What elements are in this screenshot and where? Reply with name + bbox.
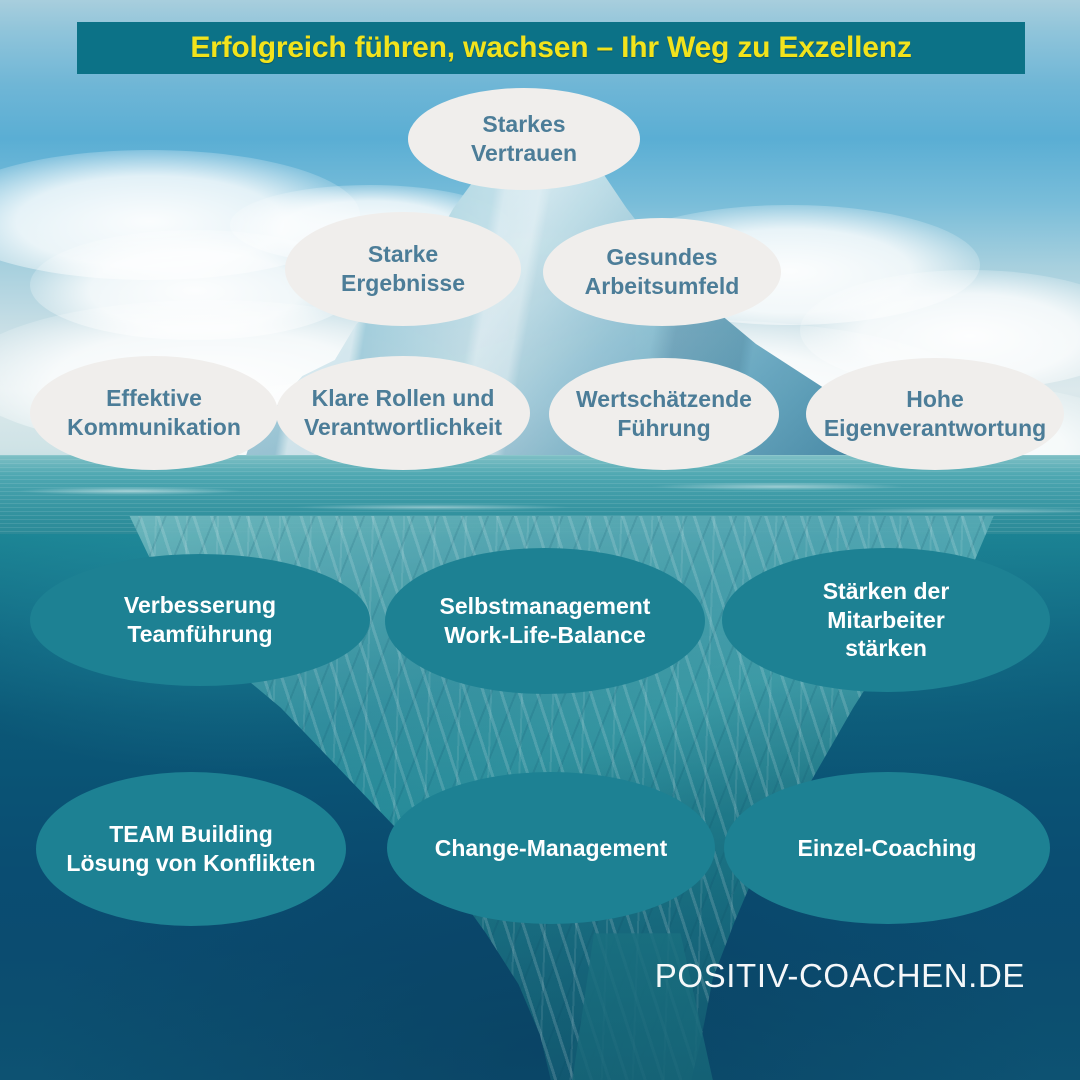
bubble-line: Arbeitsumfeld (577, 272, 748, 301)
bubble-line: Gesundes (577, 243, 748, 272)
bubble-effektive-kommunikation[interactable]: EffektiveKommunikation (30, 356, 278, 470)
bubble-change-management[interactable]: Change-Management (387, 772, 715, 924)
bubble-line: Eigenverantwortung (816, 414, 1054, 443)
bubble-line: Führung (568, 414, 760, 443)
bubble-team-building[interactable]: TEAM BuildingLösung von Konflikten (36, 772, 346, 926)
bubble-gesundes-arbeitsumfeld[interactable]: GesundesArbeitsumfeld (543, 218, 781, 326)
bubble-label: HoheEigenverantwortung (808, 385, 1062, 443)
bubble-hohe-eigenverantwortung[interactable]: HoheEigenverantwortung (806, 358, 1064, 470)
bubble-line: Teamführung (116, 620, 284, 649)
bubble-line: TEAM Building (58, 820, 323, 849)
bubble-starke-ergebnisse[interactable]: StarkeErgebnisse (285, 212, 521, 326)
bubble-label: StarkesVertrauen (455, 110, 593, 168)
bubble-label: SelbstmanagementWork-Life-Balance (424, 592, 667, 650)
bubble-wertschaetzende-fuehrung[interactable]: WertschätzendeFührung (549, 358, 779, 470)
bubble-label: Einzel-Coaching (782, 834, 993, 863)
bubble-label: GesundesArbeitsumfeld (569, 243, 756, 301)
bubble-label: Change-Management (419, 834, 684, 863)
bubble-staerken-mitarbeiter[interactable]: Stärken derMitarbeiterstärken (722, 548, 1050, 692)
title-banner: Erfolgreich führen, wachsen – Ihr Weg zu… (77, 22, 1025, 74)
bubble-starkes-vertrauen[interactable]: StarkesVertrauen (408, 88, 640, 190)
bubble-line: Hohe (816, 385, 1054, 414)
bubble-line: Verantwortlichkeit (296, 413, 510, 442)
bubble-line: Einzel-Coaching (790, 834, 985, 863)
bubble-einzel-coaching[interactable]: Einzel-Coaching (724, 772, 1050, 924)
bubble-line: Work-Life-Balance (432, 621, 659, 650)
bubble-selbstmanagement[interactable]: SelbstmanagementWork-Life-Balance (385, 548, 705, 694)
bubble-line: Verbesserung (116, 591, 284, 620)
bubble-label: StarkeErgebnisse (325, 240, 481, 298)
bubble-verbesserung-teamfuehrung[interactable]: VerbesserungTeamführung (30, 554, 370, 686)
bubble-label: TEAM BuildingLösung von Konflikten (50, 820, 331, 878)
bubble-line: Effektive (59, 384, 249, 413)
bubble-klare-rollen[interactable]: Klare Rollen undVerantwortlichkeit (276, 356, 530, 470)
bubble-line: Starke (333, 240, 473, 269)
bubble-line: Selbstmanagement (432, 592, 659, 621)
bubble-line: Change-Management (427, 834, 676, 863)
bubble-line: stärken (815, 634, 958, 663)
bubble-line: Wertschätzende (568, 385, 760, 414)
watermark-text: POSITIV-COACHEN.DE (655, 957, 1025, 995)
banner-title: Erfolgreich führen, wachsen – Ihr Weg zu… (190, 31, 911, 65)
bubble-line: Klare Rollen und (296, 384, 510, 413)
bubble-line: Vertrauen (463, 139, 585, 168)
bubble-line: Lösung von Konflikten (58, 849, 323, 878)
bubble-line: Starkes (463, 110, 585, 139)
bubble-line: Stärken der (815, 577, 958, 606)
bubble-label: Stärken derMitarbeiterstärken (807, 577, 966, 664)
bubble-label: EffektiveKommunikation (51, 384, 257, 442)
bubble-line: Mitarbeiter (815, 606, 958, 635)
iceberg-infographic: Erfolgreich führen, wachsen – Ihr Weg zu… (0, 0, 1080, 1080)
bubble-label: Klare Rollen undVerantwortlichkeit (288, 384, 518, 442)
bubble-label: VerbesserungTeamführung (108, 591, 292, 649)
bubble-line: Ergebnisse (333, 269, 473, 298)
bubble-label: WertschätzendeFührung (560, 385, 768, 443)
bubble-line: Kommunikation (59, 413, 249, 442)
